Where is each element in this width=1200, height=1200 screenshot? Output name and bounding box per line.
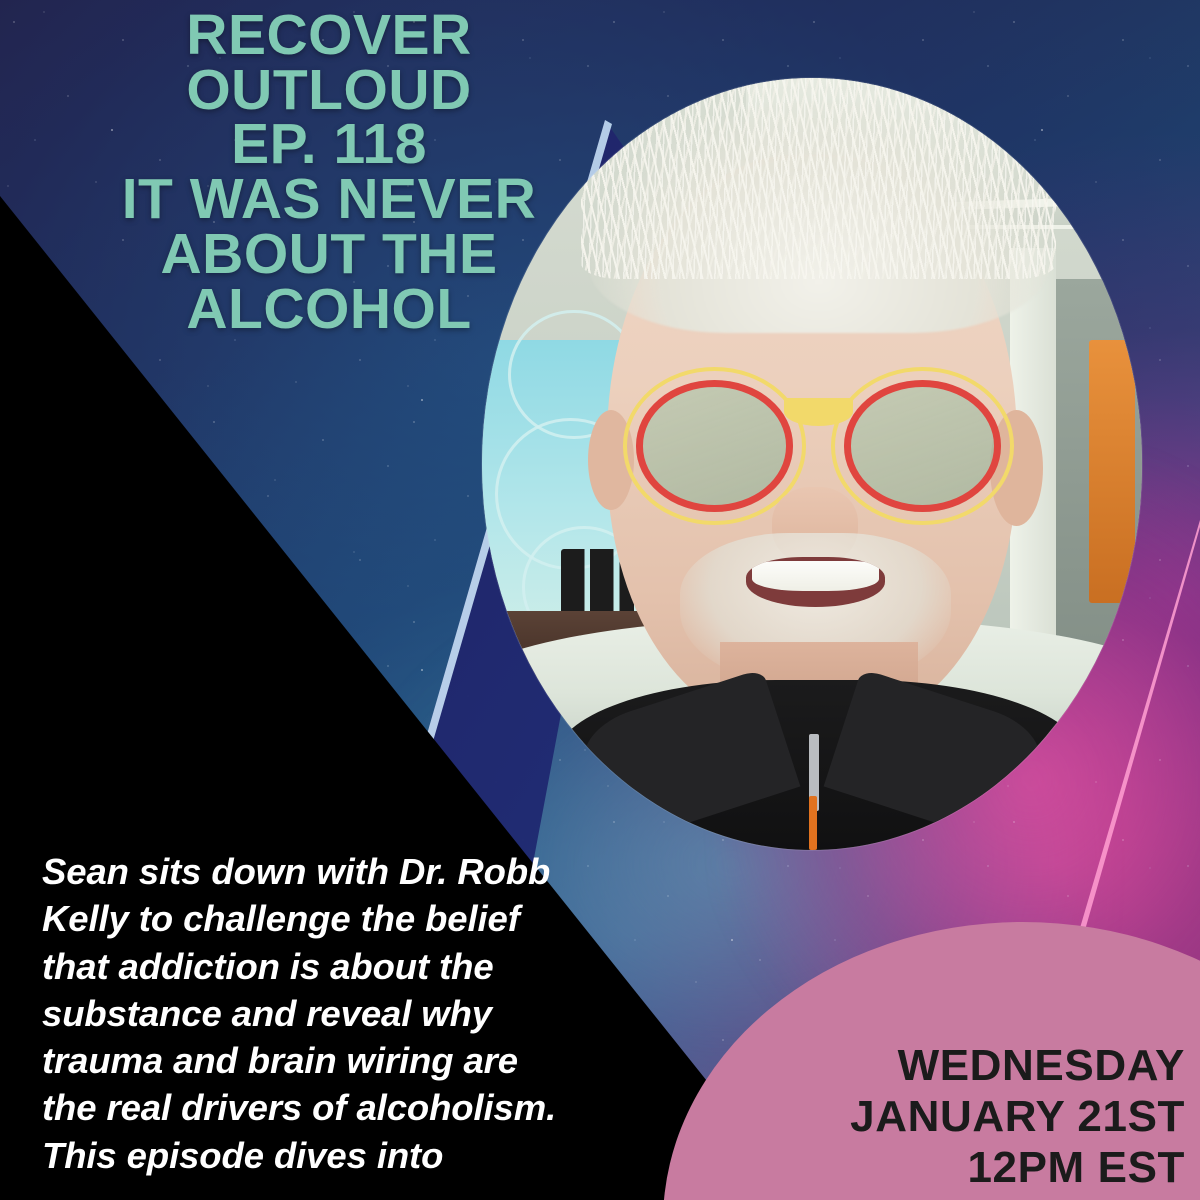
episode-title-block: RECOVER OUTLOUD EP. 118 IT WAS NEVER ABO… [48,8,610,336]
description-line: This episode dives into [42,1132,662,1179]
podcast-promo-poster: RECOVER OUTLOUD EP. 118 IT WAS NEVER ABO… [0,0,1200,1200]
portrait-orange-object [1089,340,1135,602]
episode-number: EP. 118 [48,117,610,172]
title-line: IT WAS NEVER [48,172,610,227]
portrait-zipper-pull [809,796,817,850]
description-line: that addiction is about the [42,943,662,990]
title-line: RECOVER [48,8,610,63]
event-date: JANUARY 21ST [740,1091,1185,1142]
event-day: WEDNESDAY [740,1040,1185,1091]
event-datetime-block: WEDNESDAY JANUARY 21ST 12PM EST [740,1040,1185,1193]
glasses-icon [627,371,1010,502]
description-line: the real drivers of alcoholism. [42,1084,662,1131]
portrait-spiky-hair [581,78,1056,279]
title-line: ALCOHOL [48,282,610,337]
episode-description: Sean sits down with Dr. Robb Kelly to ch… [42,848,662,1179]
glasses-lens-right [835,371,1010,520]
description-line: Kelly to challenge the belief [42,895,662,942]
glasses-lens-left [627,371,802,520]
event-time: 12PM EST [740,1142,1185,1193]
portrait-teeth [752,561,880,591]
description-line: Sean sits down with Dr. Robb [42,848,662,895]
description-line: substance and reveal why [42,990,662,1037]
title-line: OUTLOUD [48,63,610,118]
title-line: ABOUT THE [48,227,610,282]
portrait-mouth [746,557,885,607]
description-line: trauma and brain wiring are [42,1037,662,1084]
